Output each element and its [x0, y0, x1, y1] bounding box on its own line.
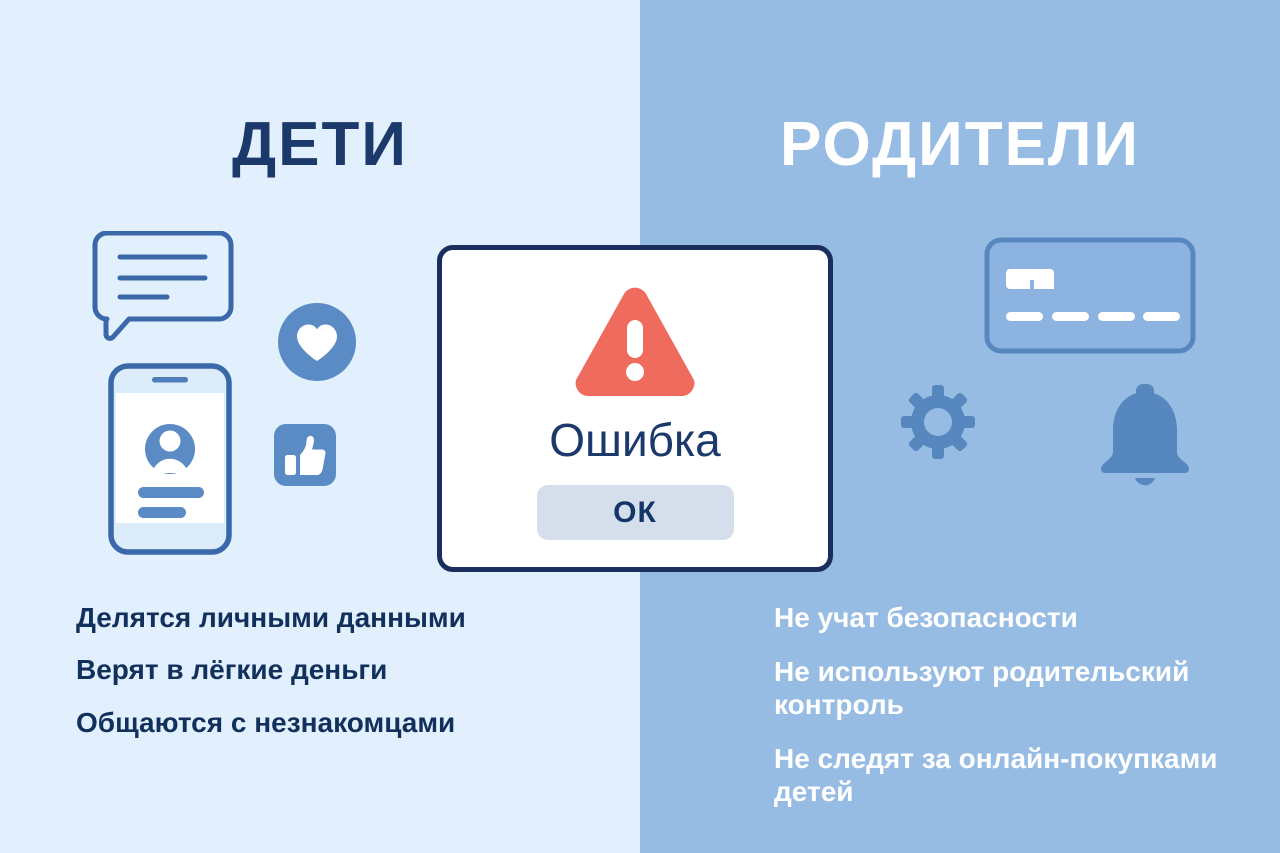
warning-triangle-icon	[570, 284, 700, 405]
smartphone-profile-icon	[108, 363, 232, 560]
credit-card-icon	[984, 237, 1196, 359]
ok-button[interactable]: ОК	[537, 485, 734, 540]
gear-icon	[901, 385, 975, 464]
thumbs-up-icon	[274, 424, 336, 491]
children-bullet-list: Делятся личными данными Верят в лёгкие д…	[76, 602, 596, 759]
list-item: Верят в лёгкие деньги	[76, 654, 596, 686]
list-item: Делятся личными данными	[76, 602, 596, 634]
list-item: Общаются с незнакомцами	[76, 707, 596, 739]
infographic-root: ДЕТИ	[0, 0, 1280, 853]
error-dialog-title: Ошибка	[549, 417, 720, 463]
list-item: Не учат безопасности	[774, 602, 1244, 634]
heart-circle-icon	[278, 303, 356, 386]
bell-icon	[1095, 382, 1195, 493]
error-dialog: Ошибка ОК	[437, 245, 833, 572]
list-item: Не используют родительский контроль	[774, 656, 1244, 721]
parents-bullet-list: Не учат безопасности Не используют родит…	[774, 602, 1244, 830]
page-title-parents: РОДИТЕЛИ	[640, 114, 1280, 176]
page-title-children: ДЕТИ	[0, 114, 640, 176]
list-item: Не следят за онлайн-покупками детей	[774, 743, 1244, 808]
speech-bubble-icon	[83, 231, 243, 356]
